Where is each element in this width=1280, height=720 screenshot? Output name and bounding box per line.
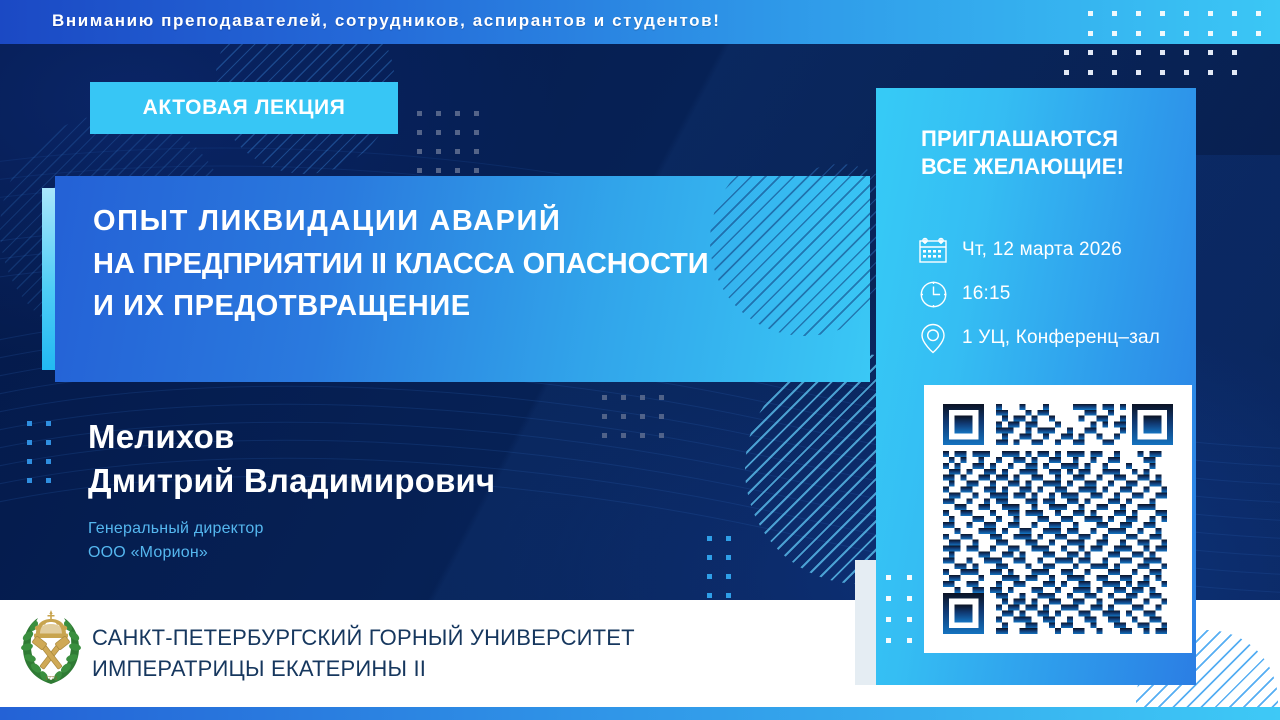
university-name-line-1: САНКТ-ПЕТЕРБУРГСКИЙ ГОРНЫЙ УНИВЕРСИТЕТ xyxy=(92,622,635,653)
lecture-title-line-3: И ИХ ПРЕДОТВРАЩЕНИЕ xyxy=(93,285,870,328)
university-name-line-2: ИМПЕРАТРИЦЫ ЕКАТЕРИНЫ II xyxy=(92,653,635,684)
event-date-value: Чт, 12 марта 2026 xyxy=(962,239,1122,261)
card-heading: ПРИГЛАШАЮТСЯ ВСЕ ЖЕЛАЮЩИЕ! xyxy=(921,125,1124,181)
university-name: САНКТ-ПЕТЕРБУРГСКИЙ ГОРНЫЙ УНИВЕРСИТЕТ И… xyxy=(92,622,635,684)
dot-grid-center xyxy=(600,374,680,484)
event-info-card: ПРИГЛАШАЮТСЯ ВСЕ ЖЕЛАЮЩИЕ! xyxy=(876,88,1196,685)
event-detail-location: 1 УЦ, Конференц–зал xyxy=(916,316,1186,360)
footer-bottom-strip xyxy=(0,707,1280,720)
announcement-banner: Вниманию преподавателей, сотрудников, ас… xyxy=(0,0,1280,44)
mining-university-emblem: 1773 xyxy=(18,608,84,686)
qr-code[interactable] xyxy=(937,398,1179,640)
dot-grid-lower-center xyxy=(705,534,755,600)
event-time-value: 16:15 xyxy=(962,283,1011,305)
lecture-type-badge-label: АКТОВАЯ ЛЕКЦИЯ xyxy=(143,96,346,120)
title-accent-bar xyxy=(42,188,56,370)
poster-canvas: Вниманию преподавателей, сотрудников, ас… xyxy=(0,0,1280,720)
card-heading-line-1: ПРИГЛАШАЮТСЯ xyxy=(921,125,1124,153)
event-detail-time: 16:15 xyxy=(916,272,1186,316)
speaker-role: Генеральный директор ООО «Морион» xyxy=(88,517,495,565)
lecture-title-line-1: ОПЫТ ЛИКВИДАЦИИ АВАРИЙ xyxy=(93,200,870,243)
svg-text:1773: 1773 xyxy=(45,676,57,682)
event-detail-date: Чт, 12 марта 2026 xyxy=(916,228,1186,272)
lecture-title-line-2: НА ПРЕДПРИЯТИИ II КЛАССА ОПАСНОСТИ xyxy=(93,243,870,286)
dot-grid-left xyxy=(25,419,75,509)
location-pin-icon xyxy=(916,322,950,354)
calendar-icon xyxy=(916,234,950,266)
qr-code-container[interactable] xyxy=(924,385,1192,653)
lecture-type-badge: АКТОВАЯ ЛЕКЦИЯ xyxy=(90,82,398,134)
speaker-name: Мелихов Дмитрий Владимирович xyxy=(88,415,495,502)
lecture-title-box: ОПЫТ ЛИКВИДАЦИИ АВАРИЙ НА ПРЕДПРИЯТИИ II… xyxy=(55,176,870,382)
speaker-role-line-1: Генеральный директор xyxy=(88,517,495,541)
speaker-role-line-2: ООО «Морион» xyxy=(88,541,495,565)
clock-icon xyxy=(916,278,950,310)
event-location-value: 1 УЦ, Конференц–зал xyxy=(962,327,1160,349)
card-heading-line-2: ВСЕ ЖЕЛАЮЩИЕ! xyxy=(921,153,1124,181)
speaker-surname: Мелихов xyxy=(88,415,495,459)
banner-dot-grid xyxy=(1040,0,1280,44)
event-details-list: Чт, 12 марта 2026 16:15 xyxy=(916,228,1186,360)
announcement-banner-text: Вниманию преподавателей, сотрудников, ас… xyxy=(52,11,720,31)
lecture-title: ОПЫТ ЛИКВИДАЦИИ АВАРИЙ НА ПРЕДПРИЯТИИ II… xyxy=(55,176,870,328)
speaker-given-name: Дмитрий Владимирович xyxy=(88,459,495,503)
speaker-block: Мелихов Дмитрий Владимирович Генеральный… xyxy=(88,415,495,565)
